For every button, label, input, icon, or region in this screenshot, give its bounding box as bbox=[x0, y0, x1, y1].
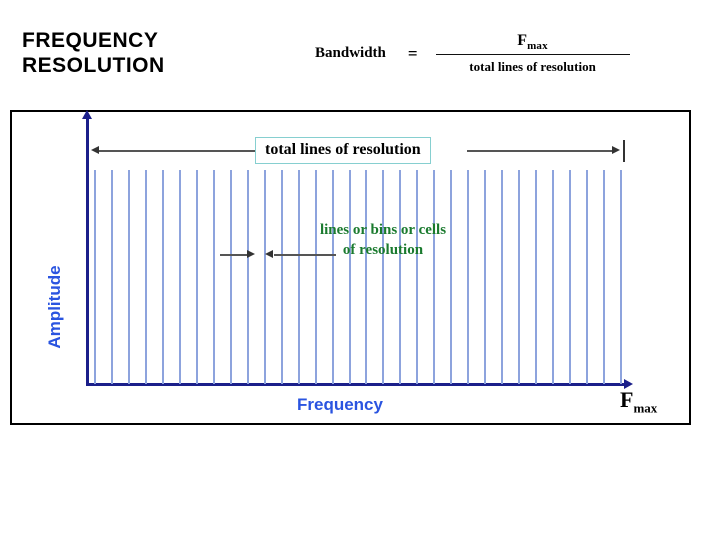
y-axis-label: Amplitude bbox=[45, 247, 65, 367]
resolution-bin-line bbox=[518, 170, 520, 384]
total-lines-left-arrow-shaft bbox=[97, 150, 256, 152]
formula-numerator: Fmax bbox=[517, 32, 548, 54]
resolution-bin-line bbox=[128, 170, 130, 384]
resolution-bin-line bbox=[196, 170, 198, 384]
resolution-bin-line bbox=[603, 170, 605, 384]
x-axis-label: Frequency bbox=[297, 395, 383, 415]
formula-denominator: total lines of resolution bbox=[469, 55, 596, 75]
resolution-bin-line bbox=[332, 170, 334, 384]
lines-bins-cells-callout: lines or bins or cells of resolution bbox=[293, 220, 473, 260]
resolution-bin-line bbox=[569, 170, 571, 384]
bandwidth-formula: Bandwidth = Fmax total lines of resoluti… bbox=[315, 32, 630, 75]
bin-width-left-arrowhead-icon bbox=[247, 250, 255, 258]
resolution-bin-line bbox=[179, 170, 181, 384]
resolution-bin-line bbox=[433, 170, 435, 384]
resolution-bin-line bbox=[535, 170, 537, 384]
resolution-bin-line bbox=[382, 170, 384, 384]
resolution-bin-line bbox=[94, 170, 96, 384]
resolution-bin-line bbox=[315, 170, 317, 384]
chart-frame: Amplitude Frequency Fmax total lines of … bbox=[10, 110, 691, 425]
resolution-bin-line bbox=[298, 170, 300, 384]
resolution-bin-line bbox=[450, 170, 452, 384]
resolution-bin-lines bbox=[86, 170, 628, 384]
resolution-bin-line bbox=[620, 170, 622, 384]
resolution-bin-line bbox=[399, 170, 401, 384]
resolution-bin-line bbox=[145, 170, 147, 384]
resolution-bin-line bbox=[162, 170, 164, 384]
resolution-bin-line bbox=[230, 170, 232, 384]
total-lines-right-arrow-shaft bbox=[467, 150, 616, 152]
resolution-bin-line bbox=[111, 170, 113, 384]
total-lines-of-resolution-callout: total lines of resolution bbox=[255, 137, 431, 164]
bin-width-right-arrowhead-icon bbox=[265, 250, 273, 258]
x-axis-max-label: Fmax bbox=[620, 387, 657, 416]
formula-numerator-subscript: max bbox=[527, 40, 548, 52]
formula-numerator-symbol: F bbox=[517, 32, 527, 49]
formula-left-hand-side: Bandwidth bbox=[315, 45, 386, 62]
resolution-bin-line bbox=[349, 170, 351, 384]
resolution-bin-line bbox=[484, 170, 486, 384]
formula-equals-sign: = bbox=[408, 44, 418, 64]
resolution-bin-line bbox=[467, 170, 469, 384]
resolution-bin-line bbox=[501, 170, 503, 384]
resolution-bin-line bbox=[213, 170, 215, 384]
bin-width-left-arrow-shaft bbox=[220, 254, 249, 256]
resolution-bin-line bbox=[281, 170, 283, 384]
resolution-bin-line bbox=[365, 170, 367, 384]
x-axis-max-subscript: max bbox=[633, 400, 657, 415]
resolution-bin-line bbox=[264, 170, 266, 384]
resolution-bin-line bbox=[552, 170, 554, 384]
x-axis-max-symbol: F bbox=[620, 387, 633, 412]
formula-fraction: Fmax total lines of resolution bbox=[436, 32, 630, 75]
total-lines-right-arrowhead-icon bbox=[612, 146, 620, 154]
total-lines-left-arrowhead-icon bbox=[91, 146, 99, 154]
y-axis-arrowhead-icon bbox=[82, 110, 92, 119]
resolution-bin-line bbox=[247, 170, 249, 384]
resolution-bin-line bbox=[416, 170, 418, 384]
resolution-bin-line bbox=[586, 170, 588, 384]
page-title: FREQUENCY RESOLUTION bbox=[22, 28, 165, 78]
total-lines-right-end-tick bbox=[623, 140, 625, 162]
